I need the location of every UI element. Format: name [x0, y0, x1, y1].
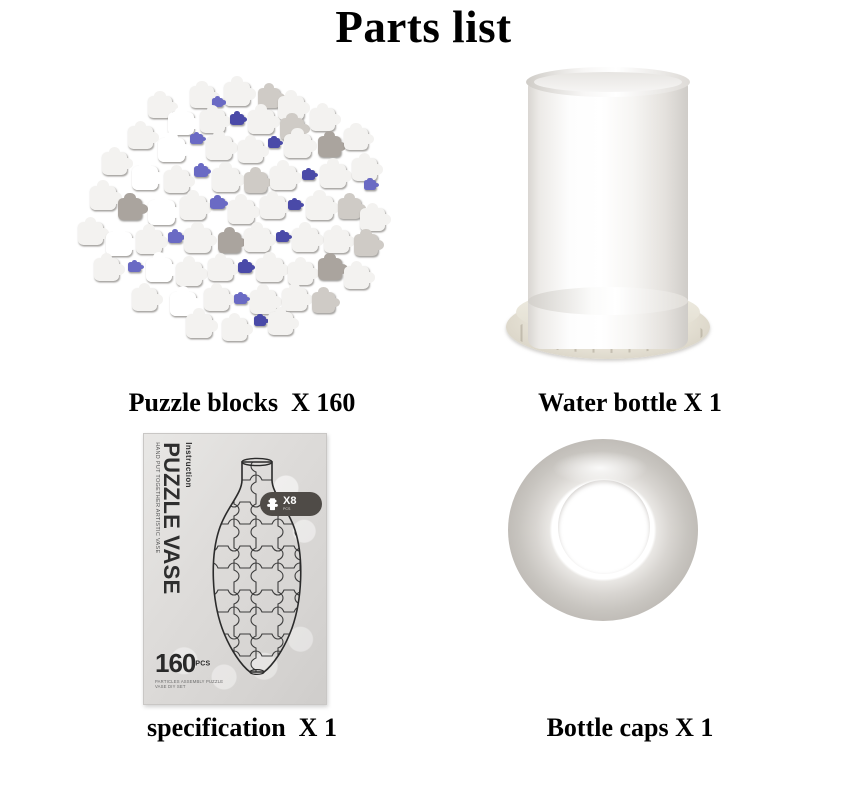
booklet-badge-quantity: X8	[283, 496, 296, 507]
booklet-instruction-label: Instruction	[183, 442, 192, 612]
puzzle-piece-icon	[265, 497, 280, 512]
parts-item-caption-water-bottle: Water bottle X 1	[430, 390, 830, 416]
booklet-piece-count-unit: PCS	[195, 660, 210, 667]
parts-item-caption-bottle-caps: Bottle caps X 1	[430, 715, 830, 741]
parts-item-puzzle-blocks: Puzzle blocks X 160	[12, 70, 472, 420]
puzzle-vase-illustration	[196, 450, 318, 678]
instruction-booklet-image: Instruction PUZZLE VASE HAND PUT TOGETHE…	[143, 433, 327, 705]
booklet-piece-count: 160	[155, 648, 195, 678]
booklet-x8-badge: X8 PCS	[260, 492, 322, 516]
parts-item-specification: Instruction PUZZLE VASE HAND PUT TOGETHE…	[12, 425, 472, 755]
booklet-footer-note: PARTICLES ASSEMBLY PUZZLE VASE DIY SET	[155, 679, 229, 690]
booklet-vertical-text-block: Instruction PUZZLE VASE HAND PUT TOGETHE…	[154, 442, 192, 612]
booklet-title: PUZZLE VASE	[160, 442, 183, 612]
white-cylindrical-water-bottle-image	[500, 63, 730, 383]
grey-ring-bottle-cap-image	[508, 435, 708, 635]
parts-item-water-bottle: Water bottle X 1	[430, 55, 830, 420]
bottle-body-lip	[528, 287, 688, 315]
parts-item-caption-specification: specification X 1	[12, 715, 472, 741]
pile-of-puzzle-pieces-image	[72, 82, 392, 347]
booklet-badge-sub: PCS	[283, 508, 296, 512]
parts-item-caption-puzzle-blocks: Puzzle blocks X 160	[12, 390, 472, 416]
booklet-piece-count-block: 160PCS PARTICLES ASSEMBLY PUZZLE VASE DI…	[155, 652, 229, 690]
parts-item-bottle-caps: Bottle caps X 1	[430, 425, 830, 755]
page-title: Parts list	[0, 2, 847, 54]
cap-ring-highlight	[552, 451, 648, 485]
cap-ring-hole	[558, 480, 650, 574]
bottle-rim-inner	[534, 72, 682, 92]
